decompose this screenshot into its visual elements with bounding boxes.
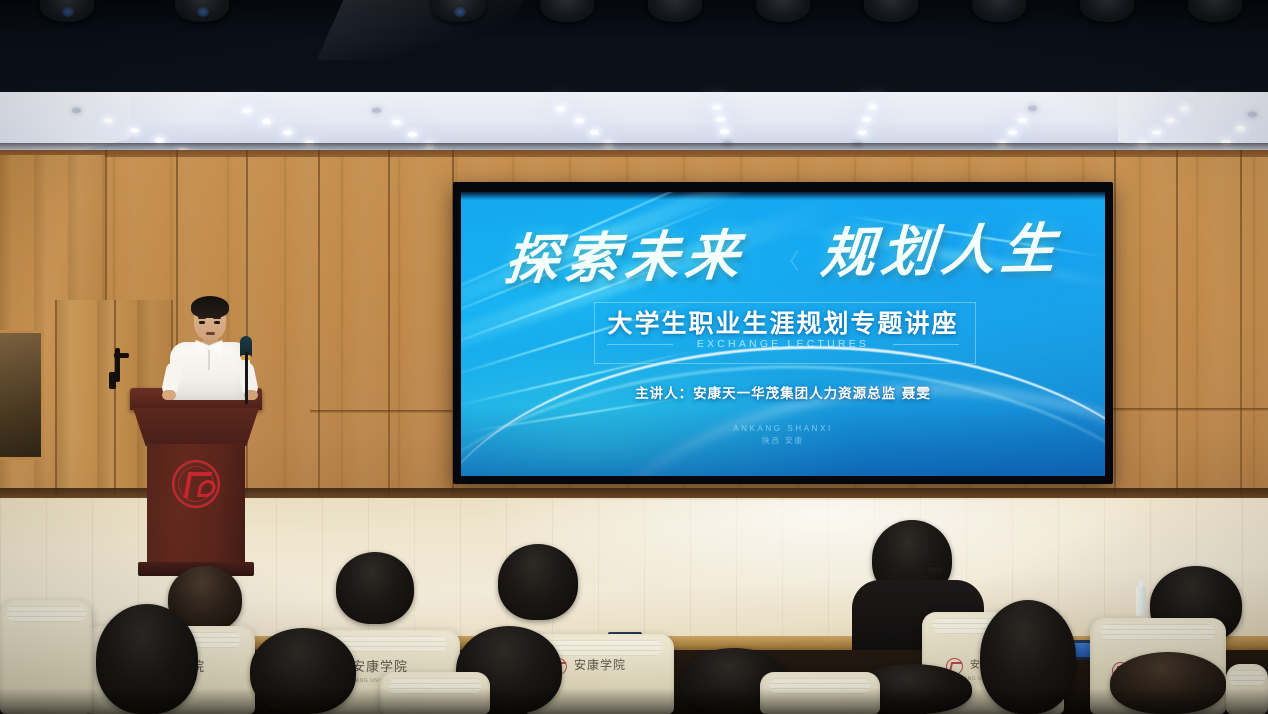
glasses-icon [926,566,943,574]
downlight-icon [1236,126,1245,131]
downlight-icon [712,105,721,110]
downlight-icon [575,118,584,123]
door-handle-icon[interactable] [109,372,116,389]
downlight-icon [408,132,417,137]
door-handle-icon[interactable] [114,353,129,358]
downlight-icon [372,108,381,113]
downlight-icon [556,106,565,111]
screen-top-edge [461,192,1105,200]
presenter-placket [208,350,210,370]
downlight-icon [283,130,292,135]
slide-title-part1: 探索未来 [502,223,748,292]
university-emblem-icon [172,460,220,508]
downlight-icon [868,105,877,110]
projection-screen-frame: 〈〈〈〈〈〈 探索未来 规划人生 大学生职业生涯规划专题讲座 EXCHANGE … [453,182,1113,484]
downlight-icon [262,119,271,124]
slide-place-cn: 陕西 安康 [461,435,1105,446]
downlight-icon [1018,118,1027,123]
presenter-eye-left [199,321,205,324]
downlight-icon [720,129,729,134]
slide-title-part2: 规划人生 [818,216,1064,285]
downlight-icon [104,118,113,123]
presenter-hand-left [162,390,176,400]
downlight-icon [1166,118,1175,123]
wall-window [0,330,44,460]
downlight-icon [1008,130,1017,135]
slide-title-gap [768,273,794,274]
slide-title: 探索未来 规划人生 [461,219,1105,289]
downlight-icon [858,130,867,135]
presenter-brow-right [213,317,221,319]
wall-top-band [0,150,1268,157]
presenter-eye-right [214,321,220,324]
slide-subtitle: 大学生职业生涯规划专题讲座 [461,304,1105,340]
presenter-mouth [206,332,215,335]
foreground-shadow [0,688,1268,714]
chair-cover-label: 安康学院 [574,656,626,673]
downlight-icon [1248,112,1257,117]
downlight-icon [1180,106,1189,111]
audience-head [498,544,578,620]
water-bottle-icon [1136,586,1146,616]
presenter-brow-left [198,317,206,319]
microphone-pole [245,352,248,404]
downlight-icon [392,120,401,125]
lecture-hall-photo: 〈〈〈〈〈〈 探索未来 规划人生 大学生职业生涯规划专题讲座 EXCHANGE … [0,0,1268,714]
podium-slant [133,408,259,446]
presenter [168,296,250,396]
microphone-icon [242,336,250,400]
downlight-icon [590,130,599,135]
emblem-mark [184,472,213,498]
downlight-icon [243,108,252,113]
slide-subtitle-en: EXCHANGE LECTURES [461,338,1105,350]
wall-groove [310,410,460,413]
slide-speaker-line: 主讲人：安康天一华茂集团人力资源总监 聂雯 [461,382,1105,402]
downlight-icon [72,108,81,113]
downlight-icon [1028,106,1037,111]
downlight-icon [716,117,725,122]
downlight-icon [130,128,139,133]
presenter-hair [191,296,229,318]
downlight-icon [1152,130,1161,135]
ceiling-beam [317,0,524,60]
projection-screen: 〈〈〈〈〈〈 探索未来 规划人生 大学生职业生涯规划专题讲座 EXCHANGE … [461,192,1105,476]
wall-groove [1110,408,1268,411]
downlight-icon [862,117,871,122]
audience-head [336,552,414,624]
slide-place-en: ANKANG SHANXI [461,424,1105,433]
